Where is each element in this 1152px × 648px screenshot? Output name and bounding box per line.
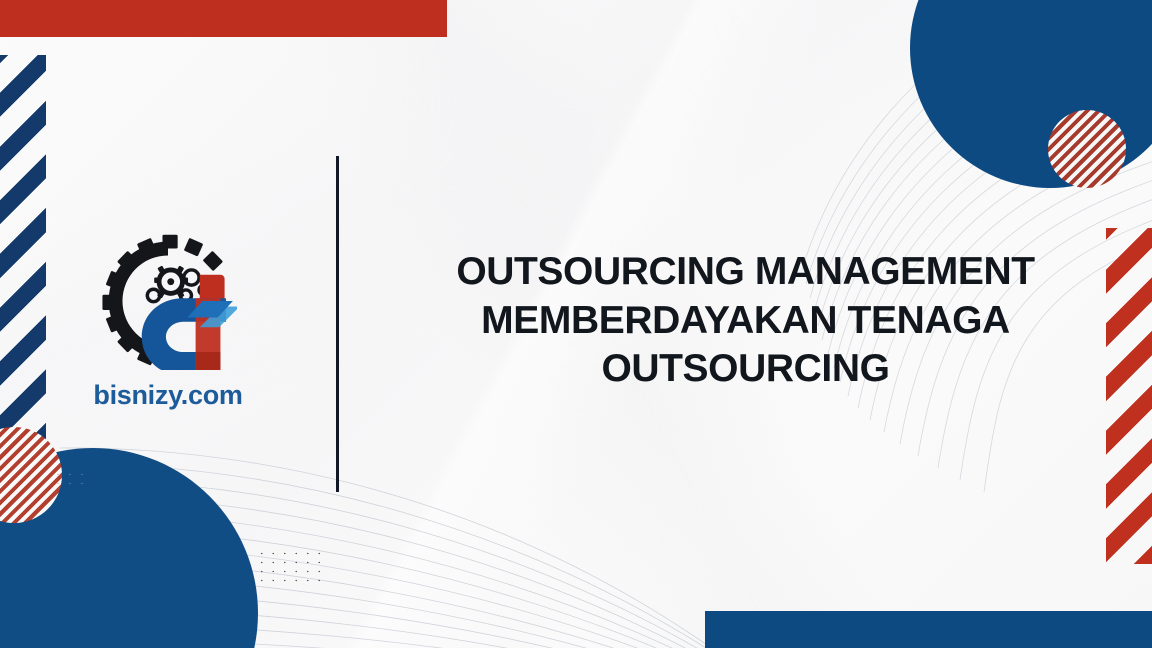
brand-name: bisnizy.com xyxy=(93,380,242,411)
banner-canvas: bisnizy.com OUTSOURCING MANAGEMENT MEMBE… xyxy=(0,0,1152,648)
page-title: OUTSOURCING MANAGEMENT MEMBERDAYAKAN TEN… xyxy=(436,248,1056,393)
banner-content: bisnizy.com OUTSOURCING MANAGEMENT MEMBE… xyxy=(0,0,1152,648)
brand-block: bisnizy.com xyxy=(0,232,336,417)
headline-block: OUTSOURCING MANAGEMENT MEMBERDAYAKAN TEN… xyxy=(339,248,1152,399)
gear-logo-icon xyxy=(99,232,237,370)
